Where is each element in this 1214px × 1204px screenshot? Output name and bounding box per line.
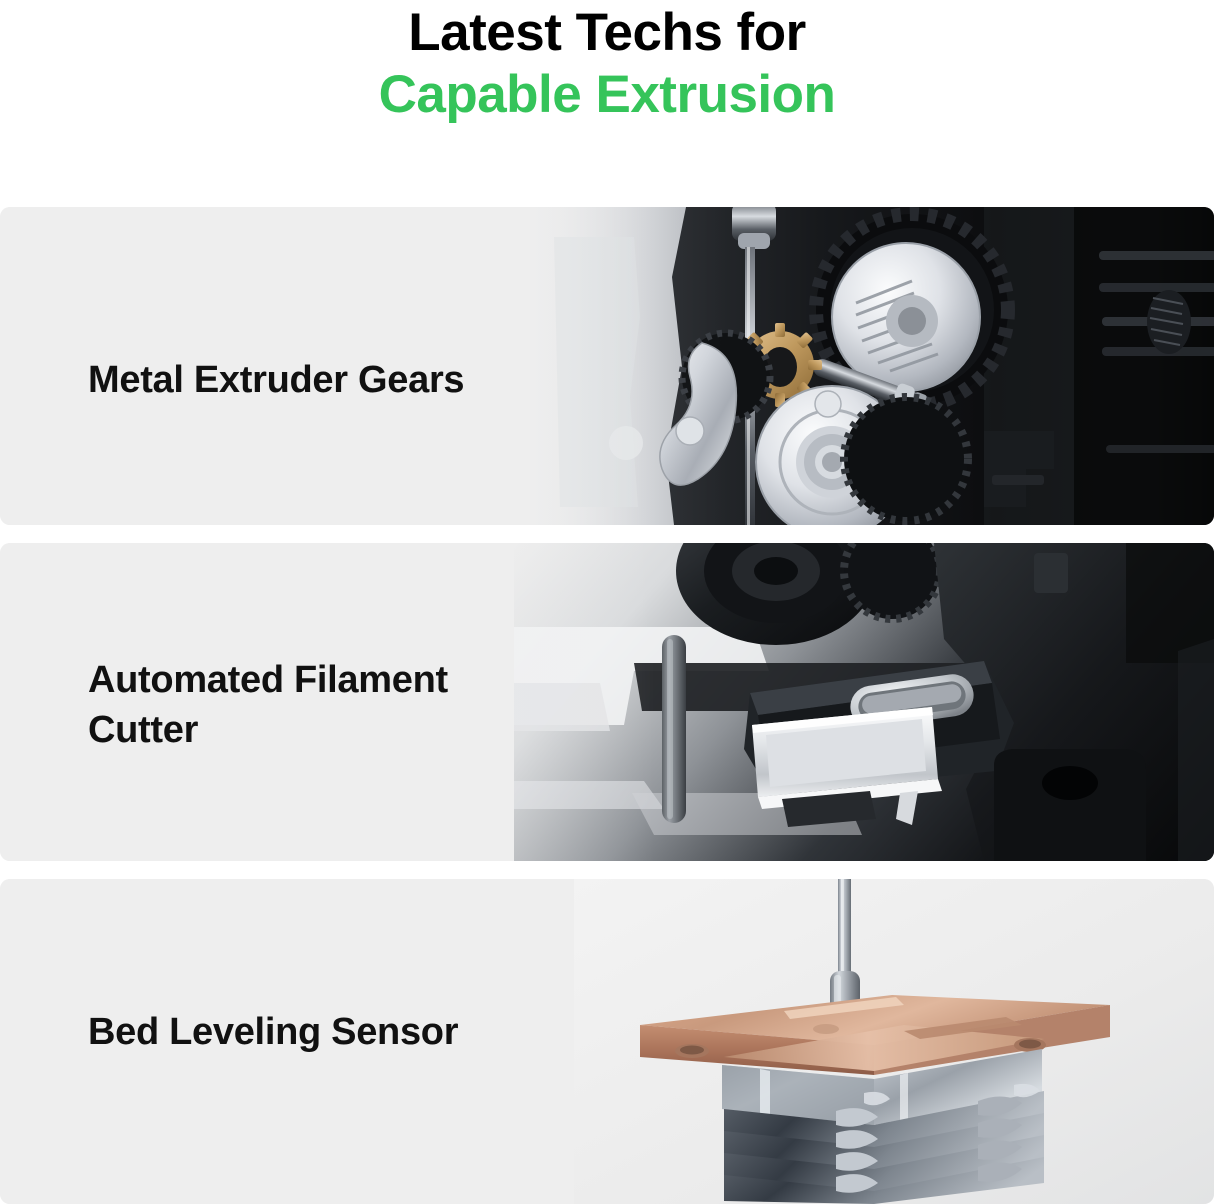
page-title: Latest Techs for Capable Extrusion [0,0,1214,200]
bed-leveling-sensor-photo [574,879,1214,1204]
automated-filament-cutter-photo [514,543,1214,861]
metal-extruder-gears-photo [514,207,1214,525]
feature-card-label: Bed Leveling Sensor [88,1007,458,1057]
feature-card-label: Automated Filament Cutter [88,655,448,755]
feature-card-label: Metal Extruder Gears [88,355,464,405]
page-title-line-2: Capable Extrusion [0,64,1214,126]
page-title-line-1: Latest Techs for [0,2,1214,64]
feature-card-automated-filament-cutter[interactable]: Automated Filament Cutter [0,543,1214,861]
feature-card-metal-extruder-gears[interactable]: Metal Extruder Gears [0,207,1214,525]
feature-card-bed-leveling-sensor[interactable]: Bed Leveling Sensor [0,879,1214,1204]
feature-highlights-page: Latest Techs for Capable Extrusion [0,0,1214,1204]
